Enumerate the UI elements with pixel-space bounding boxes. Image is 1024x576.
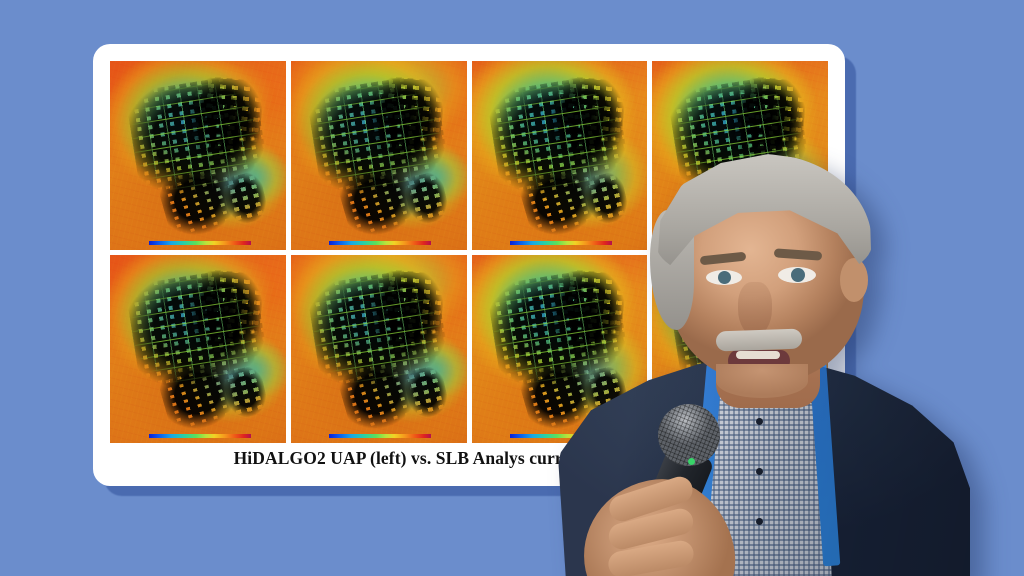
heatmap-panel-6[interactable] — [291, 255, 467, 444]
iris-left — [718, 271, 731, 284]
street-grid — [125, 72, 272, 208]
colorbar — [149, 241, 251, 245]
slide-screenshot: HiDALGO2 UAP (left) vs. SLB Analys curre… — [0, 0, 1024, 576]
microphone-led-icon — [688, 458, 695, 465]
colorbar-tick-labels — [149, 236, 251, 240]
heatmap-panel-1[interactable] — [110, 61, 286, 250]
street-grid — [305, 72, 452, 208]
panel-2-field — [291, 61, 467, 250]
teeth — [736, 351, 780, 359]
moustache — [716, 329, 803, 352]
panel-1-field — [110, 61, 286, 250]
ear — [840, 258, 868, 302]
panel-5-field — [110, 255, 286, 444]
heatmap-panel-2[interactable] — [291, 61, 467, 250]
colorbar — [149, 434, 251, 438]
chin — [716, 364, 808, 398]
street-grid — [305, 266, 452, 402]
iris-right — [791, 268, 805, 282]
speaker-photo — [548, 150, 978, 576]
panel-6-field — [291, 255, 467, 444]
colorbar — [329, 241, 431, 245]
nose — [738, 282, 772, 336]
heatmap-panel-5[interactable] — [110, 255, 286, 444]
street-grid — [125, 266, 272, 402]
colorbar — [329, 434, 431, 438]
